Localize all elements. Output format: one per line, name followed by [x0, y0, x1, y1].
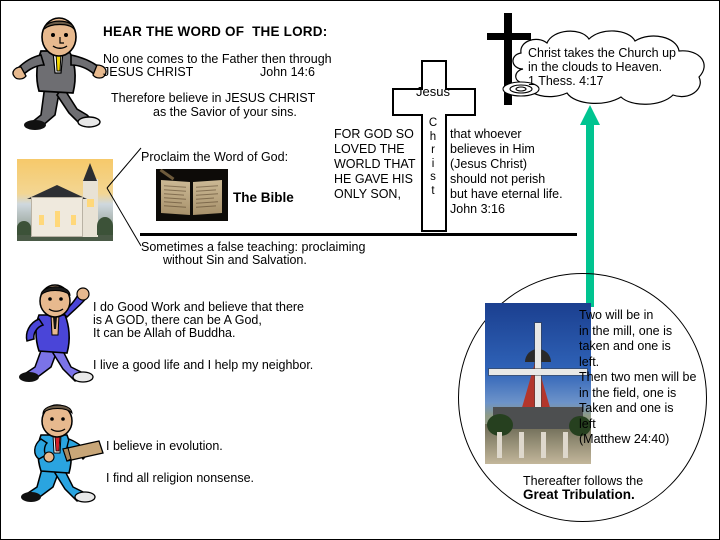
cloud-line-3: 1 Thess. 4:17: [528, 74, 604, 89]
john-3-16-right-text: that whoever believes in Him (Jesus Chri…: [450, 127, 563, 217]
cloud-line-1: Christ takes the Church up: [528, 46, 676, 61]
good-works-line-3: It can be Allah of Buddha.: [93, 326, 235, 341]
cross-jesus-label: Jesus: [392, 84, 474, 99]
windmill-post: [563, 432, 568, 458]
church-tower-window: [87, 199, 94, 207]
cross-christ-label: C h r i s t: [426, 117, 440, 198]
windmill-post: [541, 432, 546, 458]
bible-pen: [160, 169, 175, 180]
church-window: [71, 215, 76, 225]
christ-letter-c: C: [426, 117, 440, 131]
john-3-16-left-text: FOR GOD SO LOVED THE WORLD THAT HE GAVE …: [334, 127, 415, 202]
bible-right-page: [193, 180, 222, 215]
christ-letter-r: r: [426, 144, 440, 158]
christ-letter-h: h: [426, 131, 440, 145]
preacher-line-2: JESUS CHRIST: [103, 65, 193, 80]
diagram-canvas: HEAR THE WORD OF THE LORD: No one comes …: [0, 0, 720, 540]
man-with-book-icon: [13, 399, 105, 507]
church-bush: [17, 221, 31, 235]
open-bible-photo-icon: [156, 169, 228, 221]
christ-letter-i: i: [426, 158, 440, 172]
preacher-line-3: Therefore believe in JESUS CHRIST: [111, 91, 315, 106]
windmill-blade-horizontal: [489, 369, 587, 375]
atheist-line-2: I find all religion nonsense.: [106, 471, 254, 486]
good-works-line-4: I live a good life and I help my neighbo…: [93, 358, 313, 373]
john-14-6-reference: John 14:6: [260, 65, 315, 80]
horizontal-divider-icon: [140, 233, 577, 236]
man-in-blue-suit-icon: [13, 283, 101, 387]
atheist-line-1: I believe in evolution.: [106, 439, 223, 454]
great-tribulation-text: Great Tribulation.: [523, 488, 635, 503]
false-teaching-line-2: without Sin and Salvation.: [163, 253, 307, 268]
cloud-line-2: in the clouds to Heaven.: [528, 60, 662, 75]
church-spire: [83, 163, 97, 181]
windmill-photo-icon: [485, 303, 591, 464]
church-window: [55, 211, 60, 227]
bible-left-page: [161, 180, 190, 215]
preacher-line-4: as the Savior of your sins.: [153, 105, 297, 120]
christ-letter-s: s: [426, 171, 440, 185]
church-photo-icon: [17, 159, 113, 241]
matthew-24-40-text: Two will be in in the mill, one is taken…: [579, 308, 696, 448]
bible-label: The Bible: [233, 191, 294, 206]
windmill-post: [519, 432, 524, 458]
windmill-post: [497, 432, 502, 458]
man-in-gray-suit-icon: [11, 15, 109, 137]
page-title: HEAR THE WORD OF THE LORD:: [103, 25, 327, 40]
proclaim-label: Proclaim the Word of God:: [141, 150, 288, 165]
christ-letter-t: t: [426, 185, 440, 199]
church-window: [39, 215, 44, 225]
